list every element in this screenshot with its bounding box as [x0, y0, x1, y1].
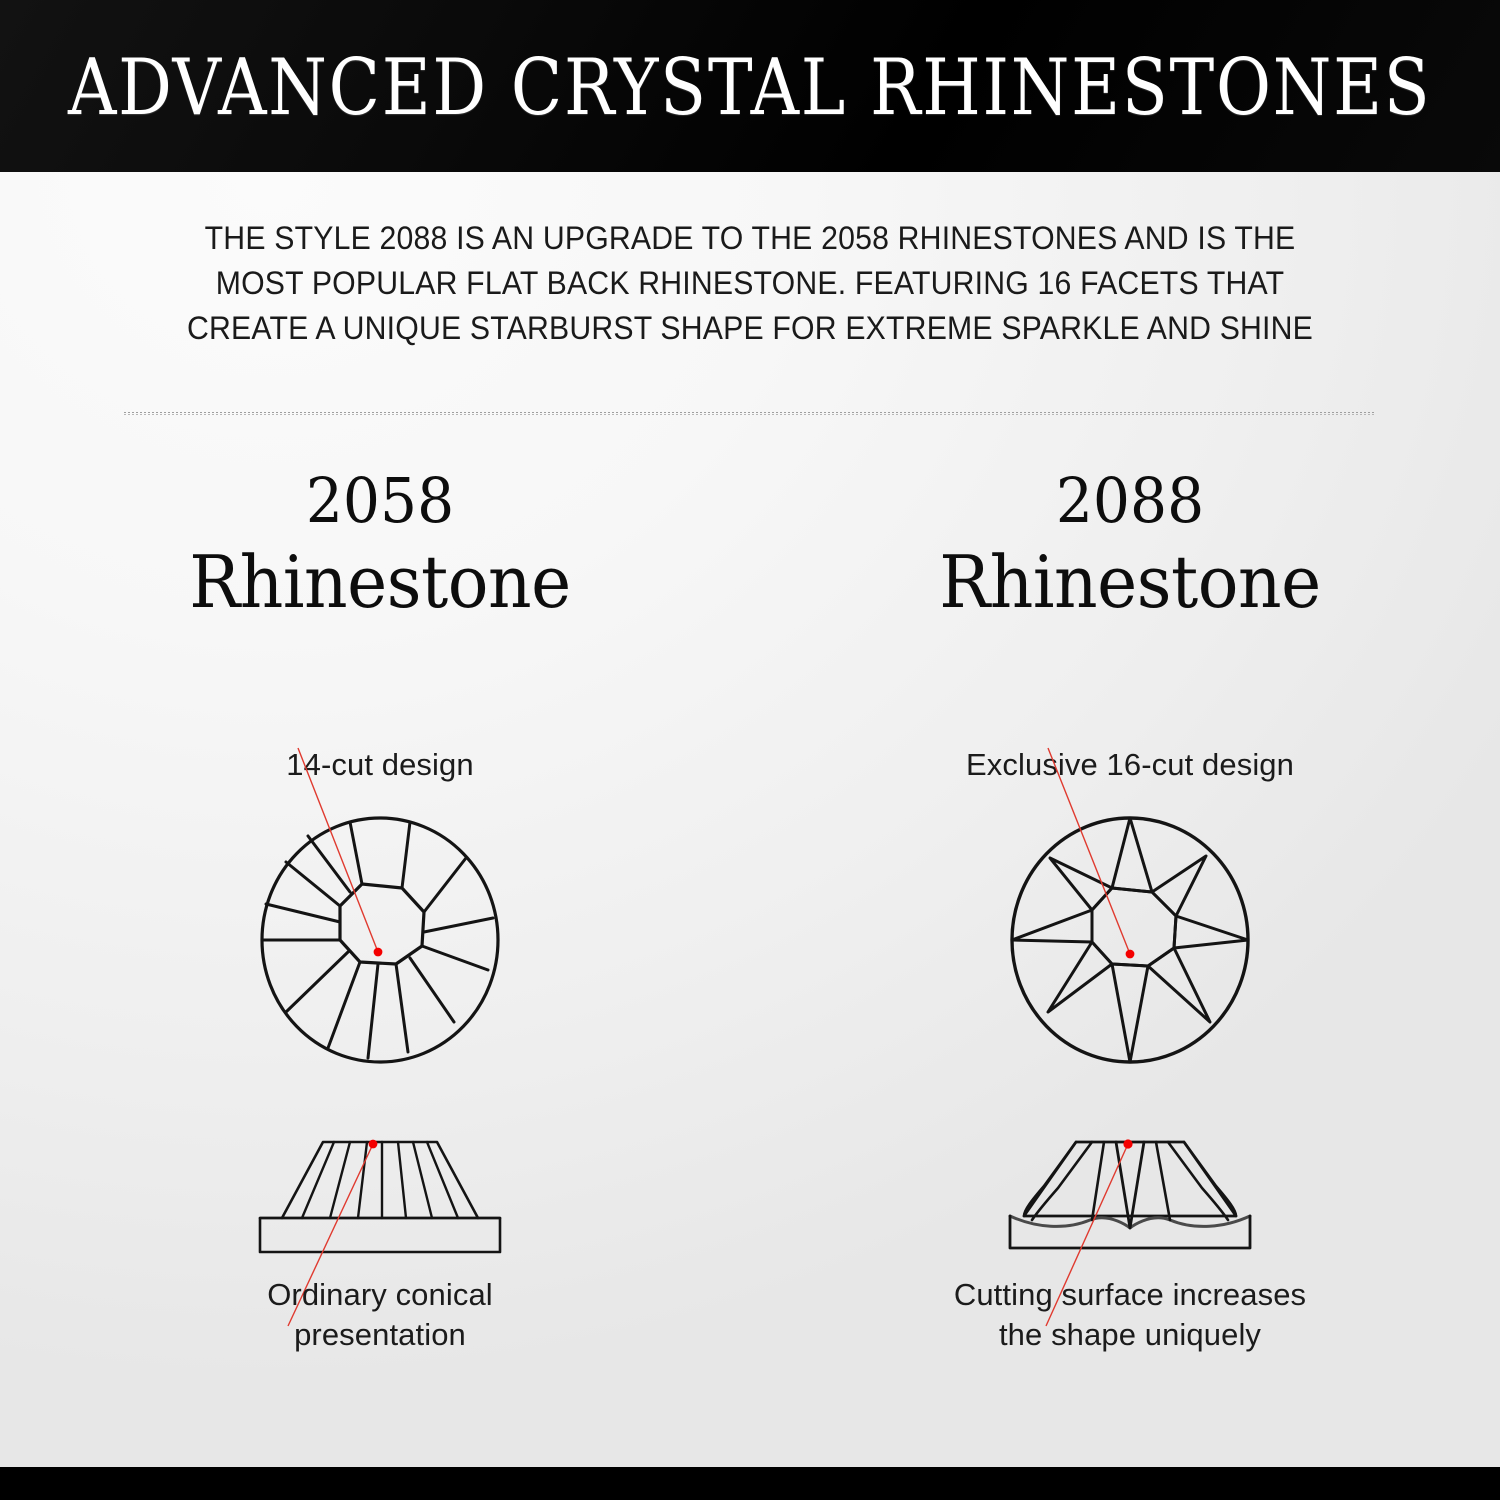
intro-line-1: THE STYLE 2088 IS AN UPGRADE TO THE 2058…	[155, 216, 1345, 261]
page-title: ADVANCED CRYSTAL RHINESTONES	[68, 49, 1432, 127]
caption-line-2: presentation	[294, 1317, 466, 1352]
column-2088-number: 2088	[810, 470, 1449, 532]
apex-marker-dot	[1123, 1139, 1132, 1148]
column-2088-bottom-caption: Cutting surface increases the shape uniq…	[790, 1275, 1470, 1355]
column-2088-title: 2088 Rhinestone	[790, 470, 1470, 618]
column-2058: 2058 Rhinestone 14-cut design	[40, 470, 720, 1400]
column-2088: 2088 Rhinestone Exclusive 16-cut design	[790, 470, 1470, 1400]
column-2058-bottom-caption: Ordinary conical presentation	[40, 1275, 720, 1355]
column-2058-title: 2058 Rhinestone	[40, 470, 720, 618]
column-2088-top-caption: Exclusive 16-cut design	[790, 745, 1470, 785]
column-2058-word: Rhinestone	[60, 546, 699, 618]
rhinestone-top-view-16-cut-starburst-icon	[790, 800, 1470, 1080]
intro-line-3: CREATE A UNIQUE STARBURST SHAPE FOR EXTR…	[155, 306, 1345, 351]
footer-bar	[0, 1467, 1500, 1500]
center-marker-dot	[374, 948, 383, 957]
dotted-divider	[124, 412, 1376, 416]
caption-text: Exclusive 16-cut design	[966, 747, 1294, 782]
rhinestone-side-view-starburst-icon	[790, 1130, 1470, 1280]
caption-line-1: Cutting surface increases	[954, 1277, 1306, 1312]
apex-marker-dot	[369, 1140, 378, 1149]
intro-paragraph: THE STYLE 2088 IS AN UPGRADE TO THE 2058…	[155, 216, 1345, 351]
column-2088-word: Rhinestone	[810, 546, 1449, 618]
column-2058-number: 2058	[60, 470, 699, 532]
rhinestone-side-view-conical-icon	[40, 1130, 720, 1280]
column-2058-top-caption: 14-cut design	[40, 745, 720, 785]
intro-line-2: MOST POPULAR FLAT BACK RHINESTONE. FEATU…	[155, 261, 1345, 306]
infographic-page: ADVANCED CRYSTAL RHINESTONES THE STYLE 2…	[0, 0, 1500, 1500]
header-banner: ADVANCED CRYSTAL RHINESTONES	[0, 0, 1500, 172]
caption-text: 14-cut design	[286, 747, 473, 782]
rhinestone-top-view-14-cut-icon	[40, 800, 720, 1080]
center-marker-dot	[1126, 950, 1135, 959]
caption-line-2: the shape uniquely	[999, 1317, 1261, 1352]
caption-line-1: Ordinary conical	[267, 1277, 493, 1312]
